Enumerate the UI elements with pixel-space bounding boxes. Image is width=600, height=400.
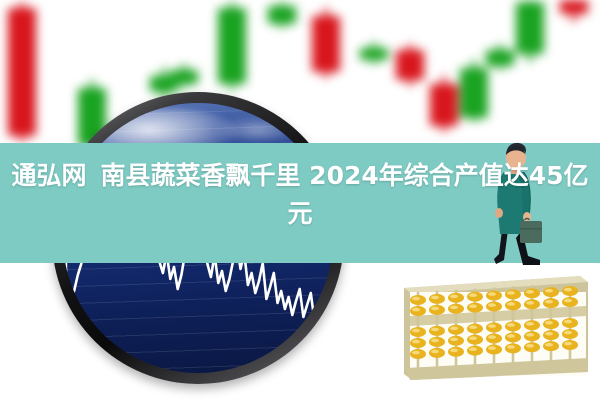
abacus-bead: [410, 306, 426, 316]
candle-body: [170, 70, 198, 84]
abacus-bead: [429, 305, 445, 315]
abacus-bead: [524, 320, 540, 330]
abacus-bead: [410, 338, 426, 348]
abacus-bead: [467, 346, 483, 356]
abacus-bead: [524, 331, 540, 341]
abacus-bead: [429, 348, 445, 358]
site-name: 通弘网: [11, 161, 86, 190]
abacus-bead: [486, 323, 502, 333]
abacus-bead: [505, 343, 521, 353]
abacus-bead: [467, 324, 483, 334]
news-thumbnail-image: 股市: [0, 0, 600, 400]
abacus-bead: [429, 337, 445, 347]
abacus-bead: [505, 300, 521, 310]
abacus-bead: [448, 293, 464, 303]
abacus-bead: [448, 304, 464, 314]
candle-body: [486, 50, 514, 66]
candle-body: [218, 8, 246, 84]
abacus-bead: [505, 332, 521, 342]
businessman-back-leg: [494, 230, 508, 264]
abacus-bead: [410, 295, 426, 305]
candle-body: [8, 8, 36, 136]
candle-body: [560, 0, 588, 14]
abacus-bead: [467, 292, 483, 302]
abacus-bead: [562, 318, 578, 328]
abacus-bead: [448, 336, 464, 346]
candle-body: [460, 68, 488, 118]
abacus-bead: [467, 335, 483, 345]
lens-glare-secondary: [213, 117, 303, 143]
candle-body: [268, 6, 296, 24]
candle-body: [396, 50, 424, 80]
headline-body: 南县蔬菜香飘千里 2024年综合产值达45亿元: [100, 161, 588, 228]
candle-body: [312, 16, 340, 72]
candle-body: [360, 48, 388, 60]
candle-body: [516, 2, 544, 54]
abacus-bead: [524, 299, 540, 309]
abacus-bead: [524, 288, 540, 298]
abacus-bead: [486, 291, 502, 301]
abacus-bead: [429, 326, 445, 336]
abacus-bead: [524, 342, 540, 352]
candle-body: [430, 84, 458, 126]
abacus-bead: [486, 334, 502, 344]
abacus-bead: [562, 297, 578, 307]
abacus-bead: [505, 289, 521, 299]
abacus-bead: [543, 330, 559, 340]
abacus-bead: [448, 325, 464, 335]
abacus-bead: [543, 287, 559, 297]
abacus-bead: [562, 340, 578, 350]
abacus-bead: [562, 286, 578, 296]
abacus-bead: [562, 329, 578, 339]
abacus-bead: [543, 298, 559, 308]
abacus-illustration: [398, 272, 594, 384]
abacus-bead: [486, 345, 502, 355]
abacus-bead: [410, 349, 426, 359]
abacus-bead: [410, 327, 426, 337]
abacus-bead: [429, 294, 445, 304]
abacus-bead: [448, 347, 464, 357]
abacus-bead: [486, 302, 502, 312]
abacus-bead: [505, 321, 521, 331]
headline-text: 通弘网南县蔬菜香飘千里 2024年综合产值达45亿元: [0, 157, 600, 233]
abacus-bead: [543, 319, 559, 329]
abacus-bead: [543, 341, 559, 351]
abacus-bead: [467, 303, 483, 313]
